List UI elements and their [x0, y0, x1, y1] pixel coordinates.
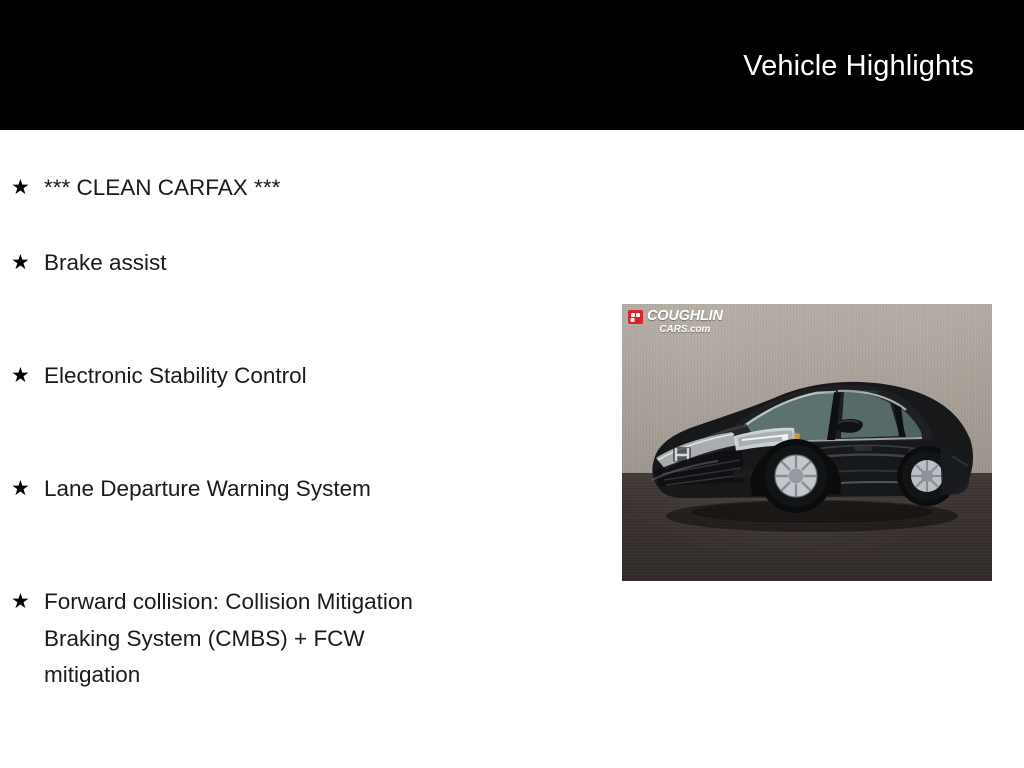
star-bullet-icon: ★: [11, 582, 30, 622]
list-item: ★ Forward collision: Collision Mitigatio…: [0, 582, 600, 695]
highlight-text: Brake assist: [44, 243, 600, 282]
list-item: ★ Lane Departure Warning System: [0, 469, 600, 582]
highlight-text: Electronic Stability Control: [44, 356, 600, 395]
vehicle-highlights-list: ★ *** CLEAN CARFAX *** ★ Brake assist ★ …: [0, 130, 600, 695]
car-illustration: [622, 304, 992, 581]
dealer-name: COUGHLIN: [647, 309, 723, 324]
dealer-watermark-text: COUGHLIN CARS.com: [647, 309, 723, 335]
highlight-text: Lane Departure Warning System: [44, 469, 600, 508]
highlight-text: *** CLEAN CARFAX ***: [44, 168, 600, 207]
coughlin-logo-icon: [628, 310, 643, 324]
star-bullet-icon: ★: [11, 168, 30, 208]
vehicle-photo: COUGHLIN CARS.com: [622, 304, 992, 581]
page-title: Vehicle Highlights: [743, 48, 974, 84]
highlight-text: Forward collision: Collision Mitigation …: [44, 582, 600, 694]
list-item: ★ *** CLEAN CARFAX ***: [0, 130, 600, 243]
star-bullet-icon: ★: [11, 356, 30, 396]
list-item: ★ Brake assist: [0, 243, 600, 356]
header-bar: Vehicle Highlights: [0, 0, 1024, 130]
dealer-watermark: COUGHLIN CARS.com: [628, 309, 723, 335]
star-bullet-icon: ★: [11, 469, 30, 509]
star-bullet-icon: ★: [11, 243, 30, 283]
dealer-website: CARS.com: [647, 325, 723, 335]
list-item: ★ Electronic Stability Control: [0, 356, 600, 469]
